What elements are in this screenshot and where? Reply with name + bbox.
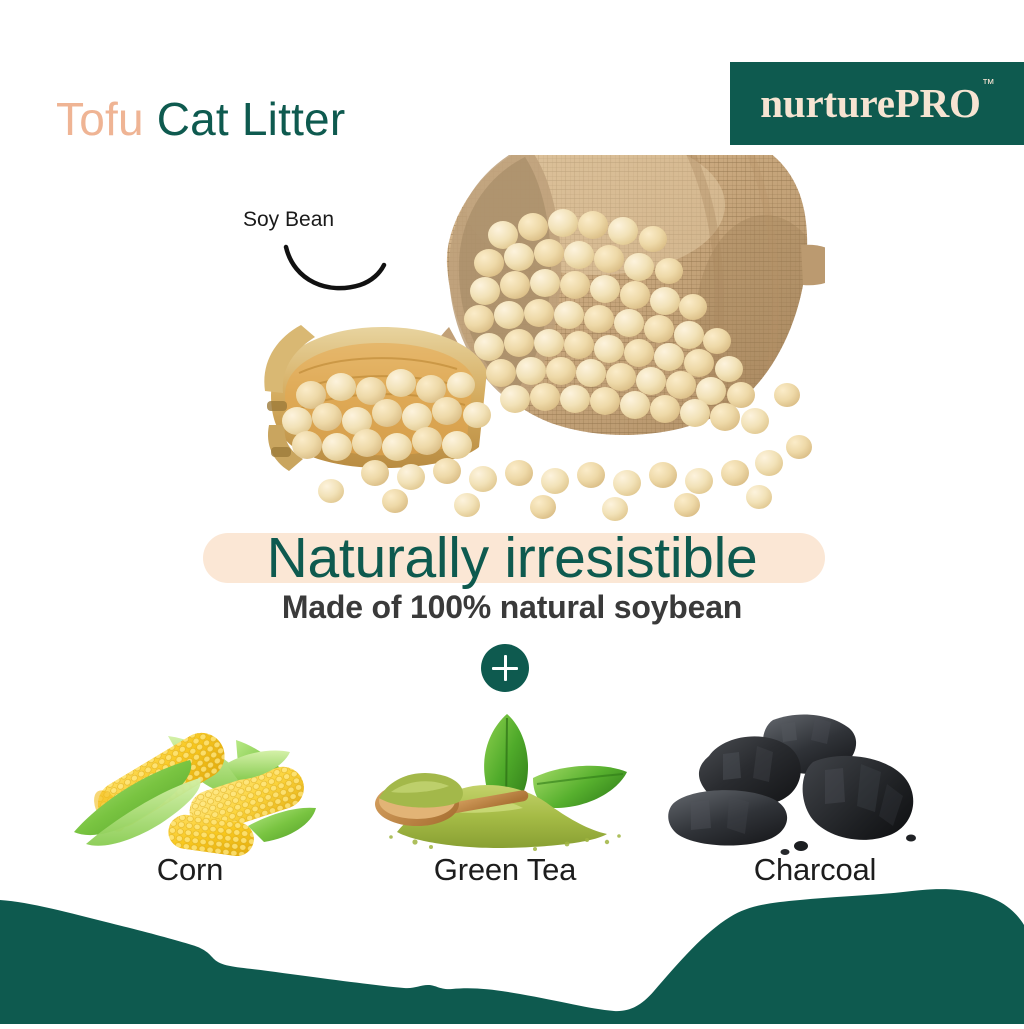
footer-wave-shape xyxy=(0,889,1024,1024)
sack-corner xyxy=(801,245,825,286)
footer-wave xyxy=(0,889,1024,1024)
trademark-symbol: ™ xyxy=(982,76,995,91)
banner-headline: Naturally irresistible xyxy=(0,527,1024,589)
brand-name-uppercase: PRO xyxy=(895,80,981,126)
page-title-part-cat-litter: Cat Litter xyxy=(157,93,346,145)
callout-arc-icon xyxy=(280,243,390,300)
brand-logo: nurturePRO™ xyxy=(730,62,1024,145)
charcoal-image xyxy=(665,706,965,856)
green-tea-illustration xyxy=(355,706,655,856)
banner-subtitle: Made of 100% natural soybean xyxy=(0,589,1024,626)
ingredient-label-green-tea: Green Tea xyxy=(355,852,655,888)
page-title-part-tofu: Tofu xyxy=(56,93,144,145)
poster-canvas: Tofu Cat Litter nurturePRO™ xyxy=(0,0,1024,1024)
corn-illustration xyxy=(40,706,340,856)
brand-name-lowercase: nurture xyxy=(760,80,895,126)
brand-logo-text: nurturePRO™ xyxy=(760,83,993,124)
soy-bean-callout-label: Soy Bean xyxy=(243,208,334,232)
plus-icon xyxy=(481,644,529,692)
charcoal-illustration xyxy=(665,706,965,856)
ingredient-label-corn: Corn xyxy=(40,852,340,888)
corn-image xyxy=(40,706,340,856)
green-tea-image xyxy=(355,706,655,856)
ingredient-label-charcoal: Charcoal xyxy=(665,852,965,888)
page-title: Tofu Cat Litter xyxy=(56,96,345,142)
banner-headline-group: Naturally irresistible xyxy=(0,527,1024,589)
